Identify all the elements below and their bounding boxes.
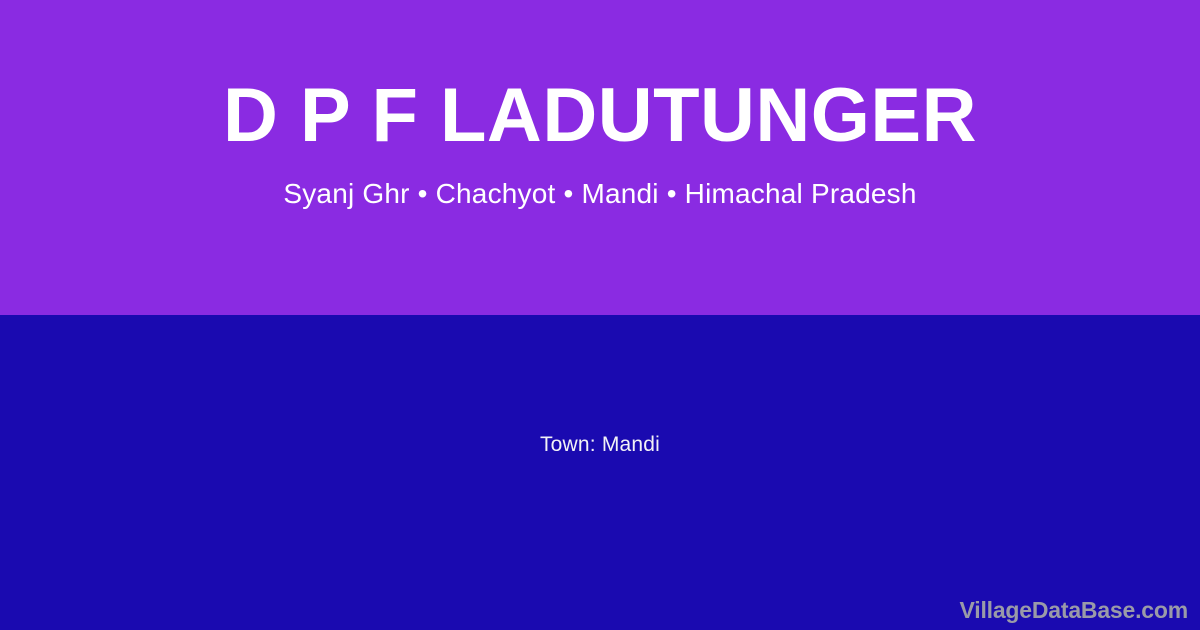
detail-list: Town: Mandi xyxy=(0,315,1200,575)
breadcrumb: Syanj Ghr • Chachyot • Mandi • Himachal … xyxy=(283,180,916,208)
card-body-band: Town: Mandi VillageDataBase.com xyxy=(0,315,1200,630)
site-watermark: VillageDataBase.com xyxy=(960,599,1188,622)
card-header-band: D P F LADUTUNGER Syanj Ghr • Chachyot • … xyxy=(0,0,1200,315)
detail-town: Town: Mandi xyxy=(540,432,660,457)
village-info-card: D P F LADUTUNGER Syanj Ghr • Chachyot • … xyxy=(0,0,1200,630)
page-title: D P F LADUTUNGER xyxy=(223,78,977,154)
